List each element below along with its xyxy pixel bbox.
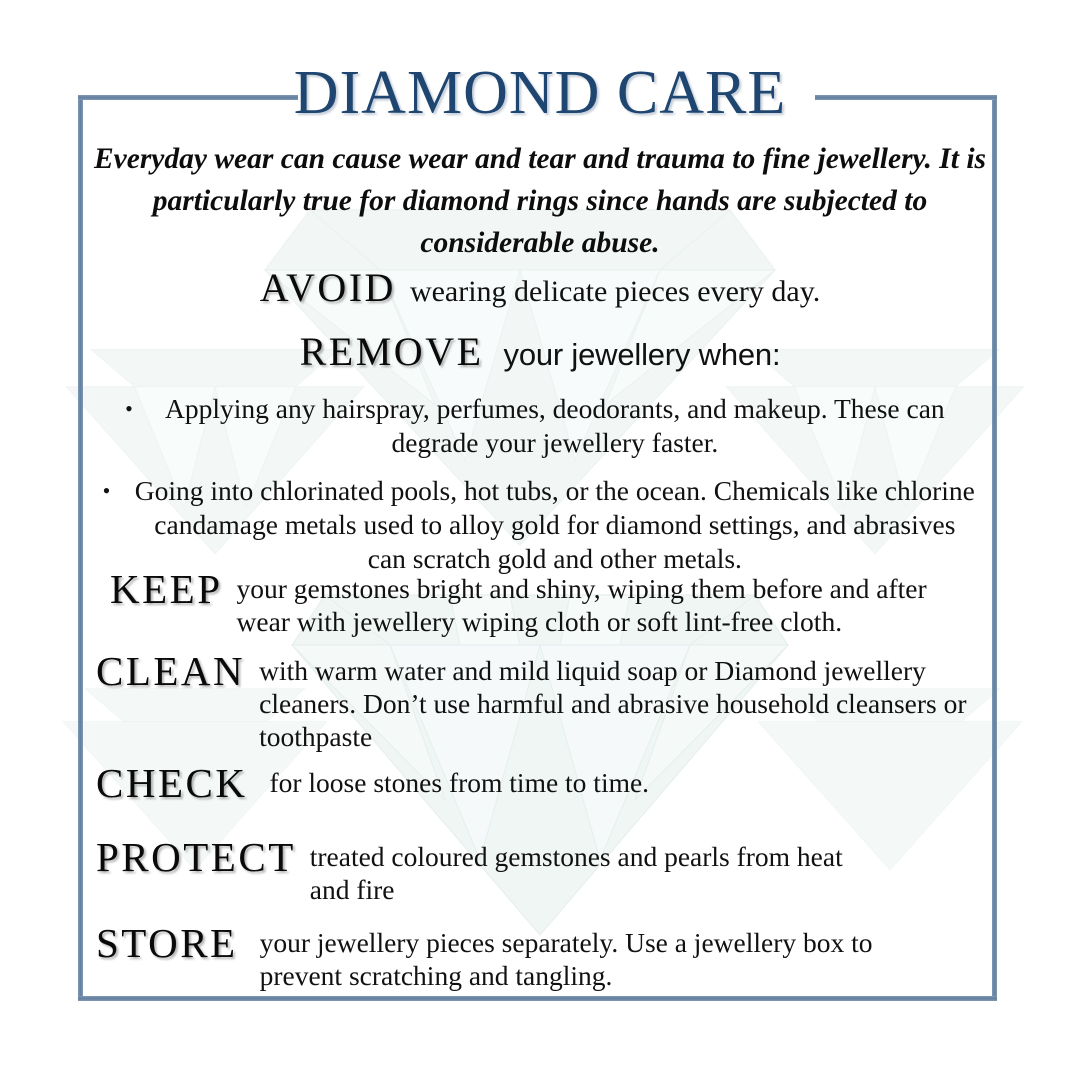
section-avoid-body: wearing delicate pieces every day. bbox=[396, 272, 820, 312]
section-remove-lead: REMOVE bbox=[300, 328, 484, 375]
page-title: DIAMOND CARE bbox=[0, 58, 1080, 128]
section-store: STORE your jewellery pieces separately. … bbox=[96, 920, 996, 992]
section-protect-lead: PROTECT bbox=[96, 834, 296, 880]
section-keep: KEEP your gemstones bright and shiny, wi… bbox=[110, 566, 990, 638]
section-store-body: your jewellery pieces separately. Use a … bbox=[238, 920, 940, 992]
section-store-lead: STORE bbox=[96, 920, 238, 966]
bullet-icon: • bbox=[103, 474, 133, 508]
bullet-icon: • bbox=[125, 392, 155, 426]
bullet-text: Going into chlorinated pools, hot tubs, … bbox=[132, 474, 977, 576]
section-clean-lead: CLEAN bbox=[96, 648, 245, 694]
section-check-lead: CHECK bbox=[96, 760, 247, 806]
bullet-text: Applying any hairspray, perfumes, deodor… bbox=[155, 392, 955, 460]
list-item: • Going into chlorinated pools, hot tubs… bbox=[88, 474, 992, 576]
diamond-care-poster: DIAMOND CARE Everyday wear can cause wea… bbox=[0, 0, 1080, 1080]
section-keep-lead: KEEP bbox=[110, 566, 223, 612]
poster-content: DIAMOND CARE Everyday wear can cause wea… bbox=[0, 0, 1080, 1080]
section-remove-body: your jewellery when: bbox=[484, 335, 781, 375]
section-avoid: AVOID wearing delicate pieces every day. bbox=[88, 264, 992, 312]
section-protect: PROTECT treated coloured gemstones and p… bbox=[96, 834, 996, 906]
section-avoid-lead: AVOID bbox=[260, 264, 396, 311]
section-remove: REMOVE your jewellery when: bbox=[88, 328, 992, 375]
section-check-body: for loose stones from time to time. bbox=[247, 760, 649, 799]
remove-bullet-list: • Applying any hairspray, perfumes, deod… bbox=[88, 392, 992, 584]
list-item: • Applying any hairspray, perfumes, deod… bbox=[88, 392, 992, 460]
section-clean-body: with warm water and mild liquid soap or … bbox=[245, 648, 989, 753]
section-protect-body: treated coloured gemstones and pearls fr… bbox=[296, 834, 855, 906]
section-keep-body: your gemstones bright and shiny, wiping … bbox=[223, 566, 967, 638]
intro-paragraph: Everyday wear can cause wear and tear an… bbox=[88, 138, 992, 264]
section-check: CHECK for loose stones from time to time… bbox=[96, 760, 996, 806]
section-clean: CLEAN with warm water and mild liquid so… bbox=[96, 648, 996, 753]
